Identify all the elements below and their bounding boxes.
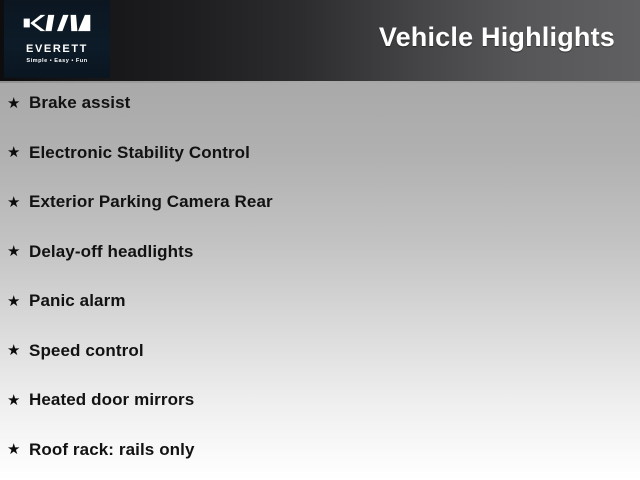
star-icon: ★ [7,143,29,162]
vehicle-highlights-list: ★ Brake assist ★ Electronic Stability Co… [0,88,640,480]
list-item-label: Delay-off headlights [29,242,193,262]
list-item: ★ Brake assist [0,88,640,118]
list-item: ★ Electronic Stability Control [0,138,640,168]
star-icon: ★ [7,94,29,113]
star-icon: ★ [7,341,29,360]
star-icon: ★ [7,242,29,261]
star-icon: ★ [7,193,29,212]
list-item-label: Heated door mirrors [29,390,194,410]
star-icon: ★ [7,440,29,459]
list-item: ★ Speed control [0,336,640,366]
vehicle-highlights-page: Vehicle Highlights EVERETT Simple • Easy… [0,0,640,480]
list-item-label: Panic alarm [29,291,126,311]
list-item-label: Roof rack: rails only [29,440,195,460]
dealer-name: EVERETT [26,43,88,55]
list-item-label: Speed control [29,341,144,361]
list-item: ★ Delay-off headlights [0,237,640,267]
header-divider [0,81,640,83]
page-title: Vehicle Highlights [379,20,615,54]
list-item: ★ Heated door mirrors [0,385,640,415]
list-item-label: Electronic Stability Control [29,143,250,163]
star-icon: ★ [7,292,29,311]
list-item: ★ Exterior Parking Camera Rear [0,187,640,217]
list-item-label: Exterior Parking Camera Rear [29,192,273,212]
list-item-label: Brake assist [29,93,130,113]
dealer-logo-panel: EVERETT Simple • Easy • Fun [4,0,110,78]
star-icon: ★ [7,391,29,410]
kia-logo-icon [23,13,91,33]
list-item: ★ Panic alarm [0,286,640,316]
dealer-tagline: Simple • Easy • Fun [26,57,87,65]
list-item: ★ Roof rack: rails only [0,435,640,465]
